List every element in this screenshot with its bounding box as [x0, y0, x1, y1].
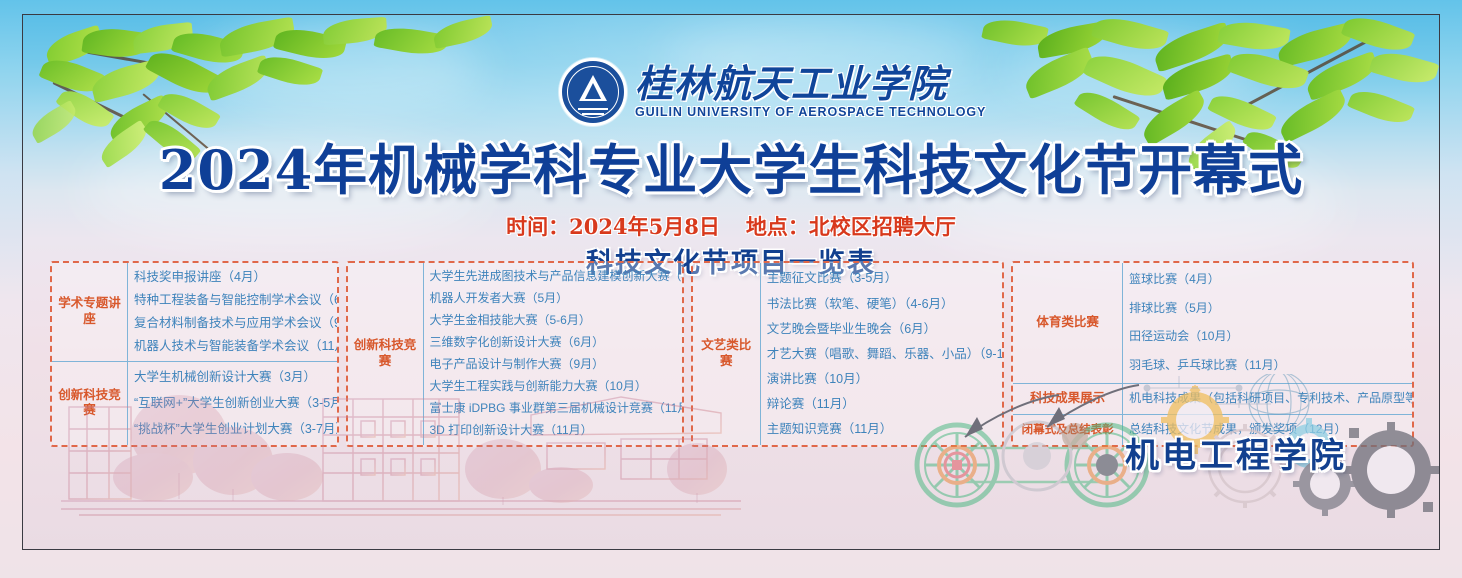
list-item[interactable]: 大学生先进成图技术与产品信息建模创新大赛（4-5月） — [430, 270, 682, 284]
leaf — [1347, 84, 1415, 130]
list-item[interactable]: 机器人技术与智能装备学术会议（11月） — [134, 339, 337, 353]
list-item[interactable]: 特种工程装备与智能控制学术会议（6月） — [134, 293, 337, 307]
leaf — [1369, 46, 1440, 89]
list-item[interactable]: 三维数字化创新设计大赛（6月） — [430, 336, 682, 350]
list-item[interactable]: 篮球比赛（4月） — [1129, 273, 1412, 287]
university-name-en: GUILIN UNIVERSITY OF AEROSPACE TECHNOLOG… — [635, 105, 986, 119]
list-item[interactable]: 排球比赛（5月） — [1129, 302, 1412, 316]
table-group: 学术专题讲座 科技奖申报讲座（4月） 特种工程装备与智能控制学术会议（6月） 复… — [52, 263, 337, 361]
event-meta: 时间：2024年5月8日地点：北校区招聘大厅 — [23, 211, 1439, 241]
university-name-cn: 桂林航天工业学院 — [635, 65, 986, 103]
poster-root: 桂林航天工业学院 GUILIN UNIVERSITY OF AEROSPACE … — [0, 0, 1462, 578]
list-item[interactable]: 复合材料制备技术与应用学术会议（9月） — [134, 316, 337, 330]
event-time: 时间：2024年5月8日 — [506, 214, 720, 239]
list-item[interactable]: 大学生金相技能大赛（5-6月） — [430, 314, 682, 328]
event-place: 地点：北校区招聘大厅 — [746, 214, 956, 239]
leaf — [1091, 14, 1169, 57]
university-logo: 桂林航天工业学院 GUILIN UNIVERSITY OF AEROSPACE … — [559, 59, 959, 125]
group-items: 科技奖申报讲座（4月） 特种工程装备与智能控制学术会议（6月） 复合材料制备技术… — [128, 263, 337, 361]
list-item[interactable]: 羽毛球、乒乓球比赛（11月） — [1129, 359, 1412, 373]
list-item[interactable]: 机器人开发者大赛（5月） — [430, 292, 682, 306]
leaf — [431, 15, 494, 49]
leaf — [27, 100, 81, 144]
list-item[interactable]: 才艺大赛（唱歌、舞蹈、乐器、小品）（9-10月） — [767, 347, 1002, 361]
campus-illustration — [61, 373, 741, 523]
school-unit-name: 机电工程学院 — [1125, 428, 1347, 477]
group-items: 篮球比赛（4月） 排球比赛（5月） 田径运动会（10月） 羽毛球、乒乓球比赛（1… — [1123, 263, 1412, 383]
list-item[interactable]: 科技奖申报讲座（4月） — [134, 270, 337, 284]
list-item[interactable]: 文艺晚会暨毕业生晚会（6月） — [767, 322, 1002, 336]
leaf — [1341, 14, 1416, 58]
aerospace-emblem-icon — [559, 58, 627, 126]
list-item[interactable]: 田径运动会（10月） — [1129, 330, 1412, 344]
page-title: 2024年机械学科专业大学生科技文化节开幕式 — [23, 143, 1439, 197]
list-item[interactable]: 主题征文比赛（3-5月） — [767, 271, 1002, 285]
list-item[interactable]: 书法比赛（软笔、硬笔）（4-6月） — [767, 297, 1002, 311]
list-item[interactable]: 电子产品设计与制作大赛（9月） — [430, 358, 682, 372]
group-label: 体育类比赛 — [1013, 263, 1123, 383]
group-label: 学术专题讲座 — [52, 263, 128, 361]
table-group: 体育类比赛 篮球比赛（4月） 排球比赛（5月） 田径运动会（10月） 羽毛球、乒… — [1013, 263, 1412, 383]
poster-frame: 桂林航天工业学院 GUILIN UNIVERSITY OF AEROSPACE … — [22, 14, 1440, 550]
